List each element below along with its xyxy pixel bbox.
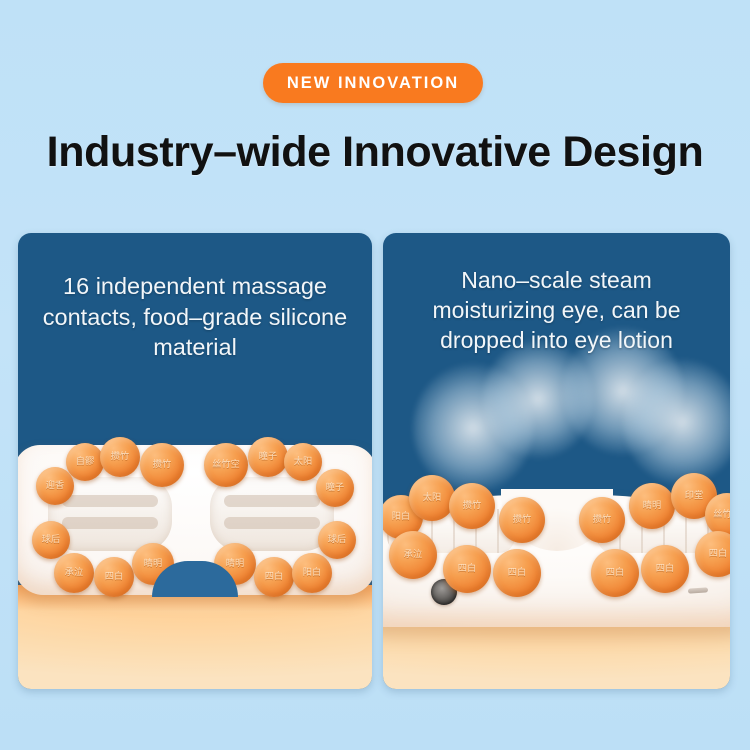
feature-card-nano-steam: Nano–scale steam moisturizing eye, can b…	[383, 233, 730, 689]
massage-node: 承泣	[54, 553, 94, 593]
massage-node: 攒竹	[100, 437, 140, 477]
lens-bar	[62, 517, 158, 529]
massage-node: 四白	[94, 557, 134, 597]
massage-node: 太阳	[409, 475, 455, 521]
massage-node: 瞳子	[248, 437, 288, 477]
massage-node: 阳白	[292, 553, 332, 593]
massage-node: 四白	[641, 545, 689, 593]
massage-node: 承泣	[389, 531, 437, 579]
badge-label: NEW INNOVATION	[287, 74, 459, 93]
massage-node: 攒竹	[579, 497, 625, 543]
massager-body: 自髎 攒竹 攒竹 丝竹空 瞳子 太阳 迎香 瞳子 球后 球后 承泣 四白 睛明 …	[18, 445, 372, 595]
massage-node: 四白	[493, 549, 541, 597]
massage-node: 攒竹	[499, 497, 545, 543]
page-header: NEW INNOVATION Industry–wide Innovative …	[0, 0, 750, 233]
feature-cards: 16 independent massage contacts, food–gr…	[0, 233, 750, 689]
product-photo-front-view: 自髎 攒竹 攒竹 丝竹空 瞳子 太阳 迎香 瞳子 球后 球后 承泣 四白 睛明 …	[18, 441, 372, 689]
massage-node: 丝竹空	[204, 443, 248, 487]
massage-node: 球后	[32, 521, 70, 559]
product-photo-steam-closeup: 阳白 太阳 攒竹 攒竹 攒竹 睛明 印堂 丝竹空 承泣 四白 四白 四白 四白 …	[383, 399, 730, 689]
lens-bar	[62, 495, 158, 507]
lens-bar	[224, 495, 320, 507]
desk-surface	[18, 585, 372, 689]
card-right-caption: Nano–scale steam moisturizing eye, can b…	[383, 233, 730, 356]
page-title: Industry–wide Innovative Design	[0, 128, 750, 177]
massage-node: 瞳子	[316, 469, 354, 507]
new-innovation-badge: NEW INNOVATION	[263, 63, 483, 103]
feature-card-massage-contacts: 16 independent massage contacts, food–gr…	[18, 233, 372, 689]
massage-node: 迎香	[36, 467, 74, 505]
steam-plume	[623, 359, 730, 485]
massage-node: 四白	[254, 557, 294, 597]
card-left-caption: 16 independent massage contacts, food–gr…	[18, 233, 372, 363]
massage-node: 睛明	[629, 483, 675, 529]
massage-node: 四白	[443, 545, 491, 593]
massage-node: 四白	[591, 549, 639, 597]
vent-slot	[688, 587, 708, 593]
massage-node: 攒竹	[140, 443, 184, 487]
massage-node: 球后	[318, 521, 356, 559]
massage-node: 太阳	[284, 443, 322, 481]
massage-node: 攒竹	[449, 483, 495, 529]
massage-node: 自髎	[66, 443, 104, 481]
lens-bar	[224, 517, 320, 529]
